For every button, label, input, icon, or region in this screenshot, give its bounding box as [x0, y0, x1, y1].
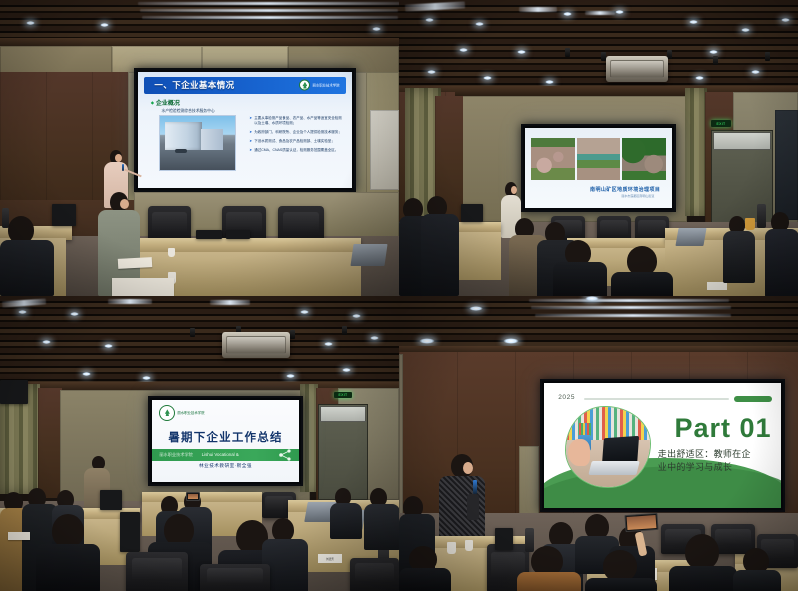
audience-member	[765, 212, 798, 296]
ceiling-ac-unit	[606, 56, 668, 82]
list-item: ➤下设水质测试、食品及农产品检测部、土壤实验室；	[249, 139, 343, 144]
slide-green-band: 丽水职业技术学院 Lishui Vocational &	[152, 449, 299, 460]
list-item: ➤为政府部门、科研院所、企业及个人提供检测技术服务；	[249, 130, 343, 135]
slide-aerial-project: 南明山矿区地质环境治理项目 丽水市莲都区南明山街道	[525, 128, 672, 208]
slide-section-heading: 企业概况	[151, 98, 180, 107]
college-logo: 丽水职业技术学院	[159, 405, 204, 421]
projection-screen: 南明山矿区地质环境治理项目 丽水市莲都区南明山街道	[521, 124, 676, 212]
phone-camera[interactable]	[624, 513, 658, 532]
list-item: ➤通过CMA、CNAS质量认证，检测服务范围覆盖全区。	[249, 148, 343, 153]
exit-sign: EXIT	[711, 120, 731, 127]
audience-member	[517, 546, 579, 591]
audience-member	[36, 514, 98, 591]
slide-heading-line2: 业中的学习与成长	[658, 461, 772, 474]
audience-member	[585, 550, 655, 591]
photo-collage: 一、下企业基本情况 丽水职业技术学院 企业概况 水产检验检测综合技术服务中心 ➤…	[0, 0, 798, 591]
slide-heading: 走出舒适区：教师在企 业中的学习与成长	[658, 448, 772, 474]
slide-footer: 林业技术教研室·靳全强	[152, 463, 299, 469]
aerial-image	[577, 138, 621, 180]
slide-building-photo	[159, 115, 236, 171]
laptop	[675, 228, 706, 246]
slide-illustration	[565, 406, 650, 489]
nameplate-label: 刘德芳	[326, 557, 334, 561]
slide-company-overview: 一、下企业基本情况 丽水职业技术学院 企业概况 水产检验检测综合技术服务中心 ➤…	[138, 72, 352, 188]
projection-screen: 丽水职业技术学院 暑期下企业工作总结 丽水职业技术学院 Lishui Vocat…	[148, 396, 303, 486]
college-emblem-icon	[299, 80, 310, 91]
audience-member	[364, 488, 399, 548]
slide-heading-line1: 走出舒适区：教师在企	[658, 448, 772, 461]
exit-sign-label: EXIT	[717, 122, 726, 126]
college-logo: 丽水职业技术学院	[299, 80, 339, 91]
phone[interactable]	[186, 492, 200, 501]
aerial-image-row	[531, 138, 666, 180]
slide-subtitle: 丽水市莲都区南明山街道	[621, 194, 654, 198]
slide-title: 南明山矿区地质环境治理项目	[590, 186, 660, 193]
audience-member	[421, 196, 457, 296]
slide-bullet-list: ➤主要从事检测产品食品、农产品、水产品等适宜安全检测以及土壤、水质环境检测； ➤…	[249, 116, 343, 158]
slide-photo-caption: 水产检验检测综合技术服务中心	[162, 109, 215, 114]
panel-bottom-right: 2025 Part 01 走出舒适区：教师在企 业中的学习与成长	[399, 296, 798, 591]
nameplate: 刘德芳	[318, 554, 342, 563]
list-item: ➤主要从事检测产品食品、农产品、水产品等适宜安全检测以及土壤、水质环境检测；	[249, 116, 343, 125]
audience-member	[399, 546, 449, 591]
slide-summary-title: 丽水职业技术学院 暑期下企业工作总结 丽水职业技术学院 Lishui Vocat…	[152, 400, 299, 482]
panel-top-right: EXIT 南明山矿区地质环境治理项目 丽水市莲都区南明山街道	[399, 0, 798, 296]
microphone	[473, 480, 477, 494]
panel-top-left: 一、下企业基本情况 丽水职业技术学院 企业概况 水产检验检测综合技术服务中心 ➤…	[0, 0, 399, 296]
slide-accent-pill	[734, 396, 772, 402]
college-logo-text: 丽水职业技术学院	[312, 83, 339, 87]
audience-member	[553, 240, 605, 296]
slide-year: 2025	[558, 394, 575, 401]
aerial-image	[622, 138, 666, 180]
audience-member	[733, 548, 779, 591]
panel-bottom-left: EXIT 丽水职业技术学院 暑期下企业工作总结 丽水职业技术学院 Lishui …	[0, 296, 399, 591]
audience-member	[723, 216, 753, 282]
audience-member	[669, 534, 735, 591]
exit-sign-label: EXIT	[339, 393, 348, 397]
slide-part-label: Part 01	[674, 413, 771, 444]
laptop	[350, 244, 387, 266]
network-node-icon	[278, 449, 292, 461]
band-english-name: Lishui Vocational &	[202, 452, 239, 457]
nameplate	[707, 282, 727, 290]
audience-member	[330, 488, 360, 538]
slide-title: 一、下企业基本情况	[154, 79, 234, 91]
projection-screen: 一、下企业基本情况 丽水职业技术学院 企业概况 水产检验检测综合技术服务中心 ➤…	[134, 68, 356, 192]
slide-title: 暑期下企业工作总结	[152, 429, 299, 445]
college-logo-text: 丽水职业技术学院	[177, 411, 204, 415]
projection-screen: 2025 Part 01 走出舒适区：教师在企 业中的学习与成长	[540, 379, 785, 512]
slide-title-bar: 一、下企业基本情况 丽水职业技术学院	[144, 77, 345, 94]
band-chinese-name: 丽水职业技术学院	[159, 452, 193, 457]
aerial-image	[531, 138, 575, 180]
slide-rule	[584, 398, 729, 400]
audience-member	[0, 216, 54, 296]
audience-member	[611, 246, 671, 296]
college-emblem-icon	[159, 405, 175, 421]
slide-part-01: 2025 Part 01 走出舒适区：教师在企 业中的学习与成长	[544, 383, 781, 508]
